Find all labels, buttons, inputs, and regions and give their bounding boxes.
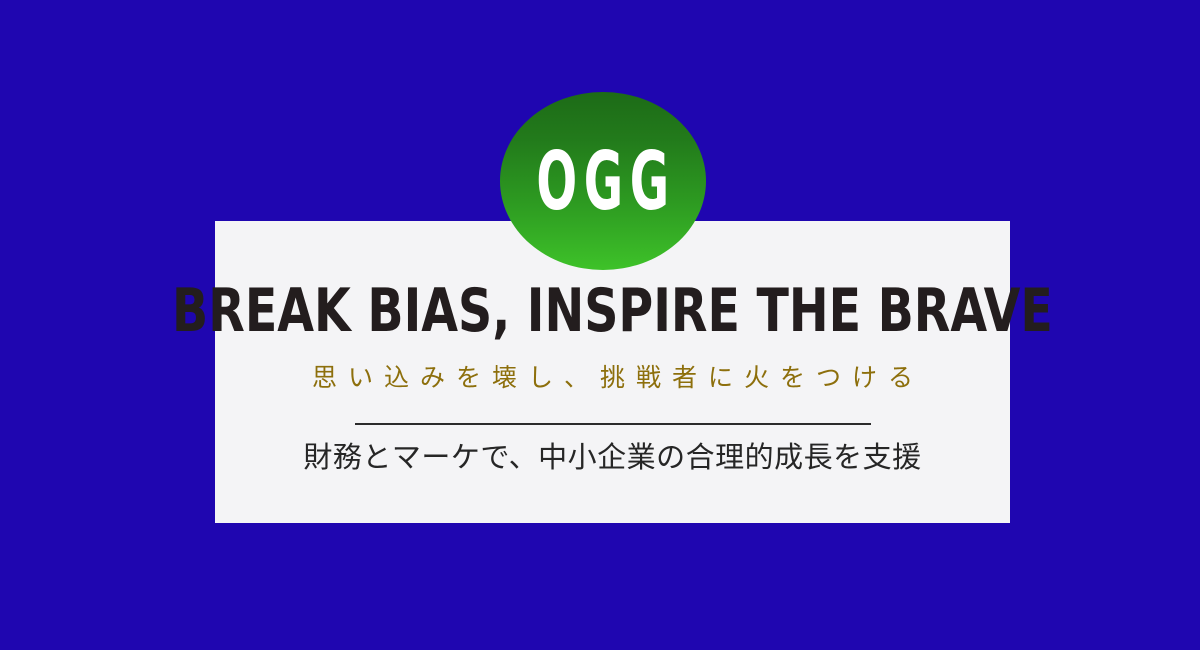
divider — [355, 423, 871, 425]
subtitle: 思い込みを壊し、挑戦者に火をつける — [301, 365, 924, 390]
poster-canvas: OGG BREAK BIAS, INSPIRE THE BRAVE 思い込みを壊… — [0, 0, 1200, 650]
logo-text: OGG — [530, 141, 676, 222]
logo-badge: OGG — [500, 92, 706, 270]
headline: BREAK BIAS, INSPIRE THE BRAVE — [172, 281, 1053, 341]
tagline: 財務とマーケで、中小企業の合理的成長を支援 — [303, 441, 921, 474]
